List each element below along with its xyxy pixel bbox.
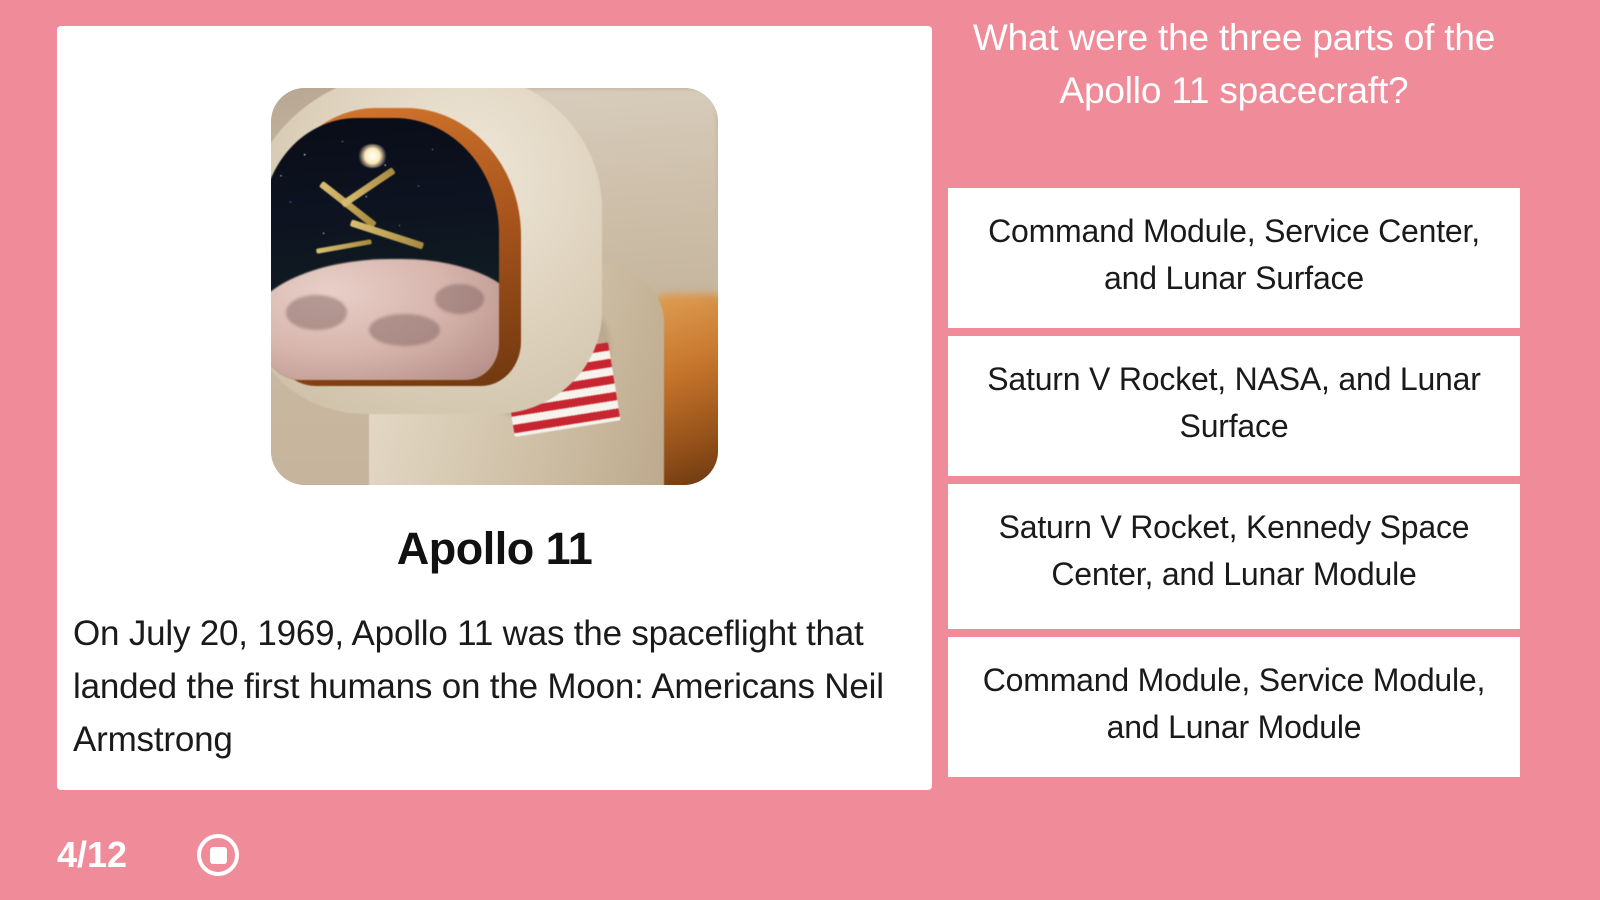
progress-counter: 4/12 — [57, 834, 127, 876]
lunar-module-strut — [316, 239, 372, 254]
lunar-rock — [286, 295, 346, 330]
flashcard-body-text: On July 20, 1969, Apollo 11 was the spac… — [65, 607, 924, 767]
flashcard-content: Apollo 11 On July 20, 1969, Apollo 11 wa… — [57, 26, 932, 790]
astronaut-photo-render — [271, 88, 718, 485]
flashcard: Apollo 11 On July 20, 1969, Apollo 11 wa… — [57, 26, 932, 790]
lunar-rock — [369, 314, 440, 347]
answer-options-list: Command Module, Service Center, and Luna… — [948, 188, 1520, 777]
stop-circle-icon[interactable] — [197, 834, 239, 876]
visor-lunar-module-reflection — [305, 160, 452, 296]
flashcard-image-container — [65, 88, 924, 485]
answer-option-3[interactable]: Saturn V Rocket, Kennedy Space Center, a… — [948, 484, 1520, 629]
lunar-module-strut — [340, 168, 395, 208]
answer-option-1[interactable]: Command Module, Service Center, and Luna… — [948, 188, 1520, 328]
answer-option-4[interactable]: Command Module, Service Module, and Luna… — [948, 637, 1520, 777]
photo-visor-glass — [271, 118, 499, 380]
quiz-panel: What were the three parts of the Apollo … — [948, 0, 1520, 900]
footer-bar: 4/12 — [57, 834, 239, 876]
stop-square-glyph — [210, 847, 227, 864]
answer-option-2[interactable]: Saturn V Rocket, NASA, and Lunar Surface — [948, 336, 1520, 476]
visor-sun-glint — [357, 144, 388, 168]
quiz-question: What were the three parts of the Apollo … — [948, 12, 1520, 117]
flashcard-title: Apollo 11 — [65, 523, 924, 575]
astronaut-photo — [271, 88, 718, 485]
